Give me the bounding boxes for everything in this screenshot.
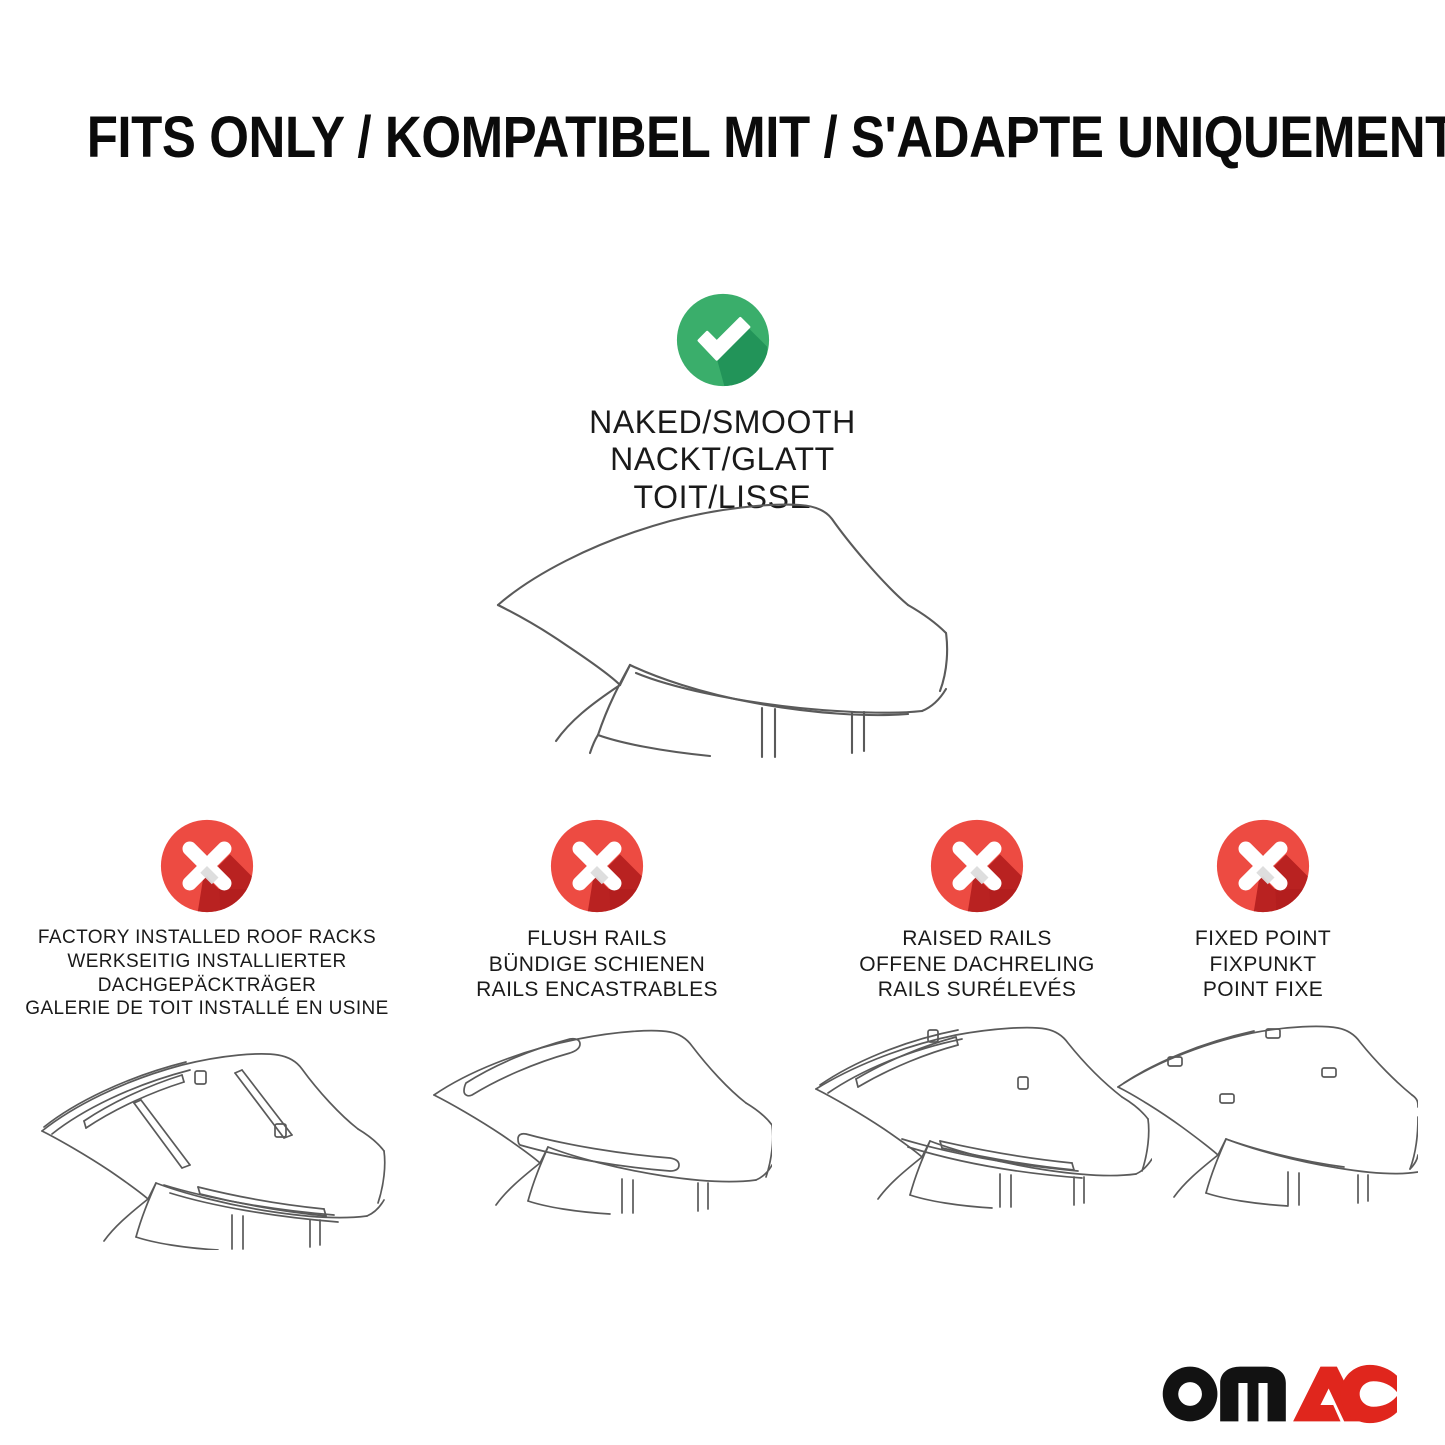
incompatible-item-factory-roof-racks: FACTORY INSTALLED ROOF RACKS WERKSEITIG … bbox=[17, 818, 397, 1250]
car-roof-fixed-point-illustration bbox=[1108, 1017, 1418, 1232]
incompatible-label-de-1: WERKSEITIG INSTALLIERTER bbox=[25, 950, 388, 974]
incompatible-item-raised-rails: RAISED RAILS OFFENE DACHRELING RAILS SUR… bbox=[807, 818, 1147, 1232]
incompatible-label-de: OFFENE DACHRELING bbox=[859, 952, 1095, 978]
incompatible-label-fr: POINT FIXE bbox=[1195, 977, 1331, 1003]
compatible-section: NAKED/SMOOTH NACKT/GLATT TOIT/LISSE bbox=[0, 292, 1445, 516]
incompatible-labels: FIXED POINT FIXPUNKT POINT FIXE bbox=[1195, 926, 1331, 1003]
omac-logo bbox=[1160, 1363, 1397, 1425]
incompatible-label-de: FIXPUNKT bbox=[1195, 952, 1331, 978]
page-title: FITS ONLY / KOMPATIBEL MIT / S'ADAPTE UN… bbox=[87, 104, 1359, 171]
car-roof-naked-smooth-illustration bbox=[470, 495, 1010, 760]
incompatible-item-fixed-point: FIXED POINT FIXPUNKT POINT FIXE bbox=[1147, 818, 1379, 1232]
incompatible-label-en: RAISED RAILS bbox=[859, 926, 1095, 952]
x-circle-icon bbox=[159, 818, 255, 914]
compatible-label-de: NACKT/GLATT bbox=[589, 441, 856, 478]
car-roof-flush-rails-illustration bbox=[422, 1017, 772, 1232]
fitment-chart-canvas: FITS ONLY / KOMPATIBEL MIT / S'ADAPTE UN… bbox=[0, 0, 1445, 1445]
check-circle-icon bbox=[675, 292, 771, 388]
incompatible-label-en: FLUSH RAILS bbox=[476, 926, 718, 952]
incompatible-labels: FLUSH RAILS BÜNDIGE SCHIENEN RAILS ENCAS… bbox=[476, 926, 718, 1003]
incompatible-label-de-2: DACHGEPÄCKTRÄGER bbox=[25, 974, 388, 998]
incompatible-labels: FACTORY INSTALLED ROOF RACKS WERKSEITIG … bbox=[25, 926, 388, 1021]
incompatible-section: FACTORY INSTALLED ROOF RACKS WERKSEITIG … bbox=[0, 818, 1445, 1238]
x-circle-icon bbox=[929, 818, 1025, 914]
incompatible-item-flush-rails: FLUSH RAILS BÜNDIGE SCHIENEN RAILS ENCAS… bbox=[427, 818, 767, 1232]
incompatible-label-fr: RAILS ENCASTRABLES bbox=[476, 977, 718, 1003]
x-circle-icon bbox=[1215, 818, 1311, 914]
incompatible-label-fr: GALERIE DE TOIT INSTALLÉ EN USINE bbox=[25, 997, 388, 1021]
incompatible-label-de: BÜNDIGE SCHIENEN bbox=[476, 952, 718, 978]
compatible-label-en: NAKED/SMOOTH bbox=[589, 404, 856, 441]
incompatible-labels: RAISED RAILS OFFENE DACHRELING RAILS SUR… bbox=[859, 926, 1095, 1003]
incompatible-label-fr: RAILS SURÉLEVÉS bbox=[859, 977, 1095, 1003]
car-roof-factory-roof-racks-illustration bbox=[22, 1035, 392, 1250]
incompatible-label-en: FIXED POINT bbox=[1195, 926, 1331, 952]
car-roof-raised-rails-illustration bbox=[802, 1017, 1152, 1232]
x-circle-icon bbox=[549, 818, 645, 914]
incompatible-label-en: FACTORY INSTALLED ROOF RACKS bbox=[25, 926, 388, 950]
